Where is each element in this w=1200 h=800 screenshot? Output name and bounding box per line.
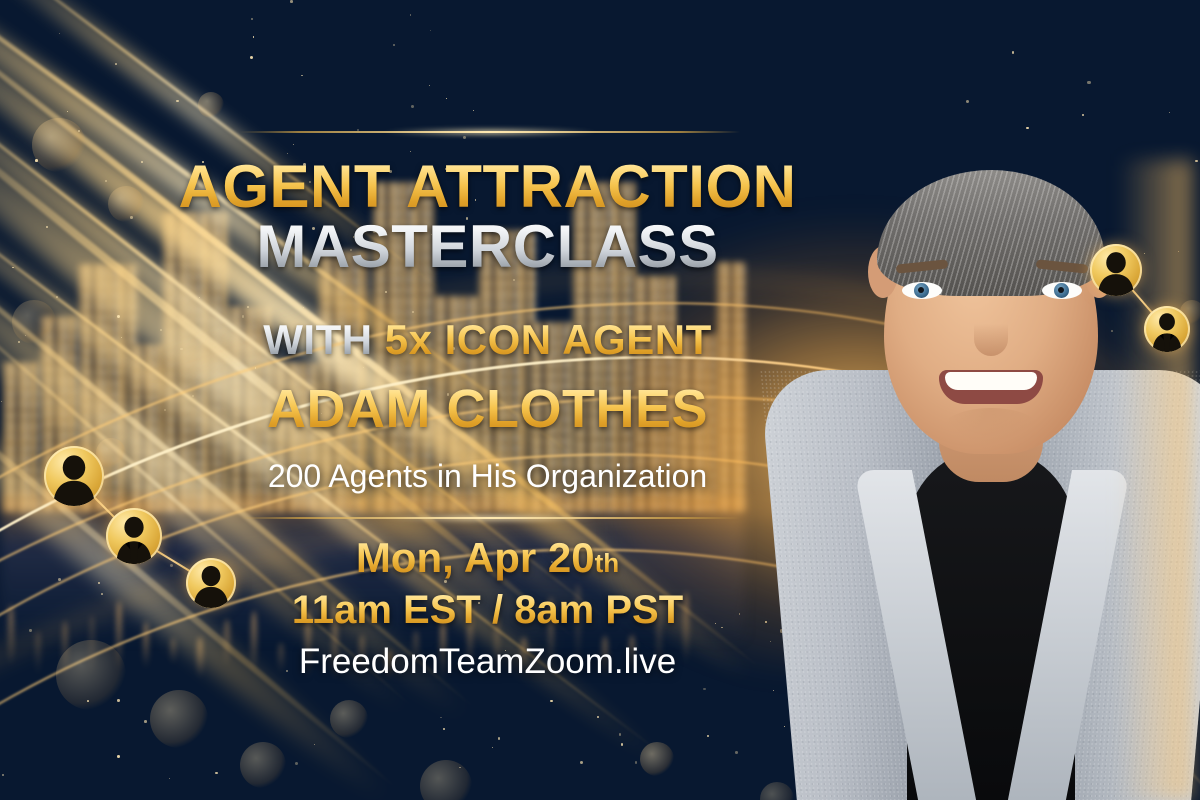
headline-line-1: AGENT ATTRACTION — [0, 152, 975, 221]
date-suffix-text: th — [595, 548, 620, 578]
divider-top — [240, 131, 740, 133]
date-text: Mon, Apr 20 — [356, 534, 595, 581]
nose — [974, 302, 1008, 356]
tagline-line: 200 Agents in His Organization — [0, 458, 975, 495]
presenter-name-line: ADAM CLOTHES — [0, 378, 975, 440]
with-line: WITH 5x ICON AGENT — [0, 316, 975, 364]
headline-line-2: MASTERCLASS — [0, 212, 975, 281]
time-text: 11am EST / 8am PST — [292, 588, 683, 632]
with-prefix-text: WITH — [263, 316, 384, 363]
person-node-right-2 — [1144, 306, 1190, 352]
time-line: 11am EST / 8am PST — [0, 588, 975, 633]
divider-bottom — [240, 517, 740, 519]
presenter-name-text: ADAM CLOTHES — [267, 379, 708, 439]
date-line: Mon, Apr 20th — [0, 534, 975, 582]
registration-url-text[interactable]: FreedomTeamZoom.live — [299, 642, 676, 681]
webinar-promo-poster: AGENT ATTRACTION MASTERCLASS WITH 5x ICO… — [0, 0, 1200, 800]
tagline-text: 200 Agents in His Organization — [268, 458, 707, 494]
headline-line-1-text: AGENT ATTRACTION — [179, 153, 797, 220]
with-highlight-text: 5x ICON AGENT — [385, 316, 712, 363]
person-node-right-1 — [1090, 244, 1142, 296]
eye-right — [1042, 282, 1082, 299]
registration-url[interactable]: FreedomTeamZoom.live — [0, 642, 975, 682]
text-content: AGENT ATTRACTION MASTERCLASS WITH 5x ICO… — [0, 0, 975, 800]
headline-line-2-text: MASTERCLASS — [256, 213, 718, 280]
